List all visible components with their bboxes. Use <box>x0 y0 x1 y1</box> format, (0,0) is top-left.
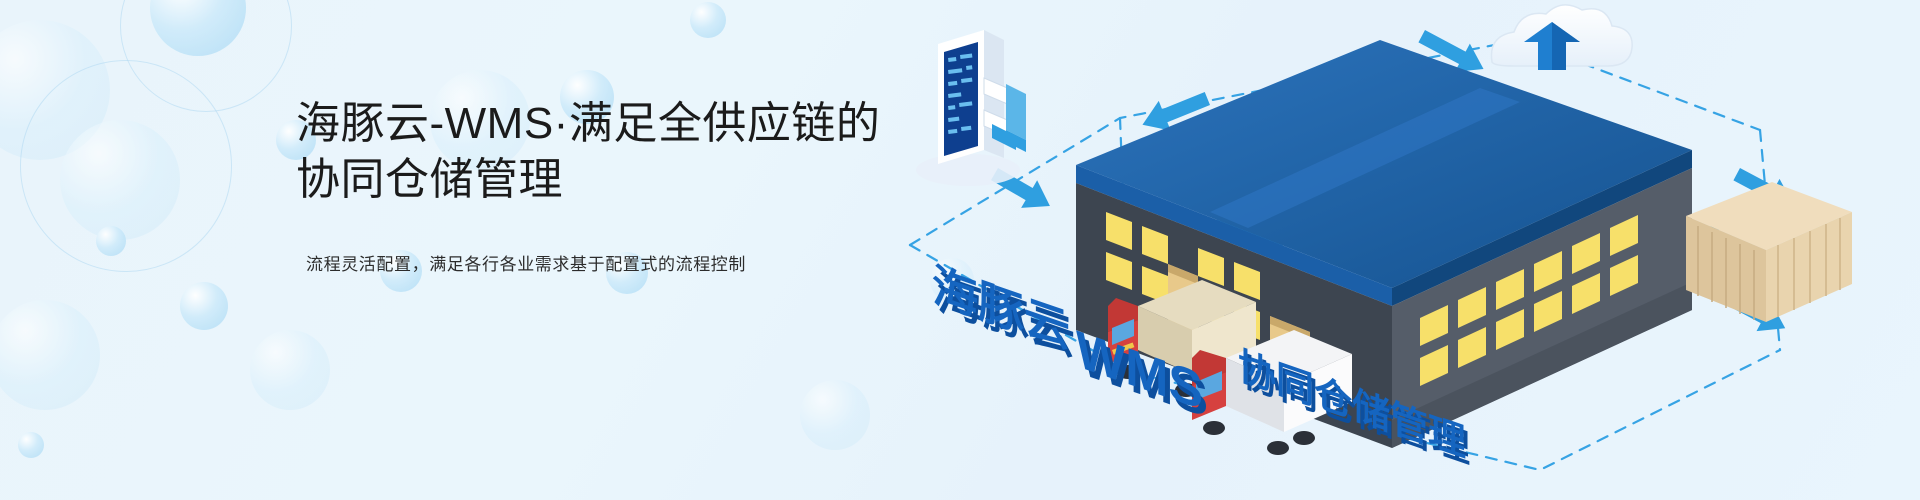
bubble-icon <box>150 0 246 56</box>
bubble-icon <box>20 60 232 272</box>
hero-banner: 海豚云-WMS·满足全供应链的 协同仓储管理 流程灵活配置，满足各行各业需求基于… <box>0 0 1920 500</box>
banner-subtitle: 流程灵活配置，满足各行各业需求基于配置式的流程控制 <box>306 251 916 278</box>
bubble-icon <box>180 282 228 330</box>
bubble-icon <box>0 20 110 160</box>
shipping-container <box>1686 182 1852 322</box>
bubble-icon <box>120 0 292 112</box>
bubble-icon <box>250 330 330 410</box>
svg-text:海豚云: 海豚云 <box>932 259 1070 358</box>
page-title: 海豚云-WMS·满足全供应链的 协同仓储管理 <box>296 96 916 209</box>
bubble-icon <box>18 432 44 458</box>
cloud-upload-icon <box>1491 5 1632 70</box>
banner-copy: 海豚云-WMS·满足全供应链的 协同仓储管理 流程灵活配置，满足各行各业需求基于… <box>296 96 916 278</box>
label-haitunyun: 海豚云 海豚云 <box>932 259 1075 366</box>
bubble-icon <box>0 300 100 410</box>
bubble-icon <box>60 120 180 240</box>
bubble-icon <box>96 226 126 256</box>
bubble-icon <box>690 2 726 38</box>
server-tower <box>916 30 1026 186</box>
warehouse-illustration: 海豚云 海豚云 WMS WMS 协同仓储管理 协同仓储管理 海豚云 WMS 协同… <box>880 0 1920 500</box>
bubble-icon <box>800 380 870 450</box>
